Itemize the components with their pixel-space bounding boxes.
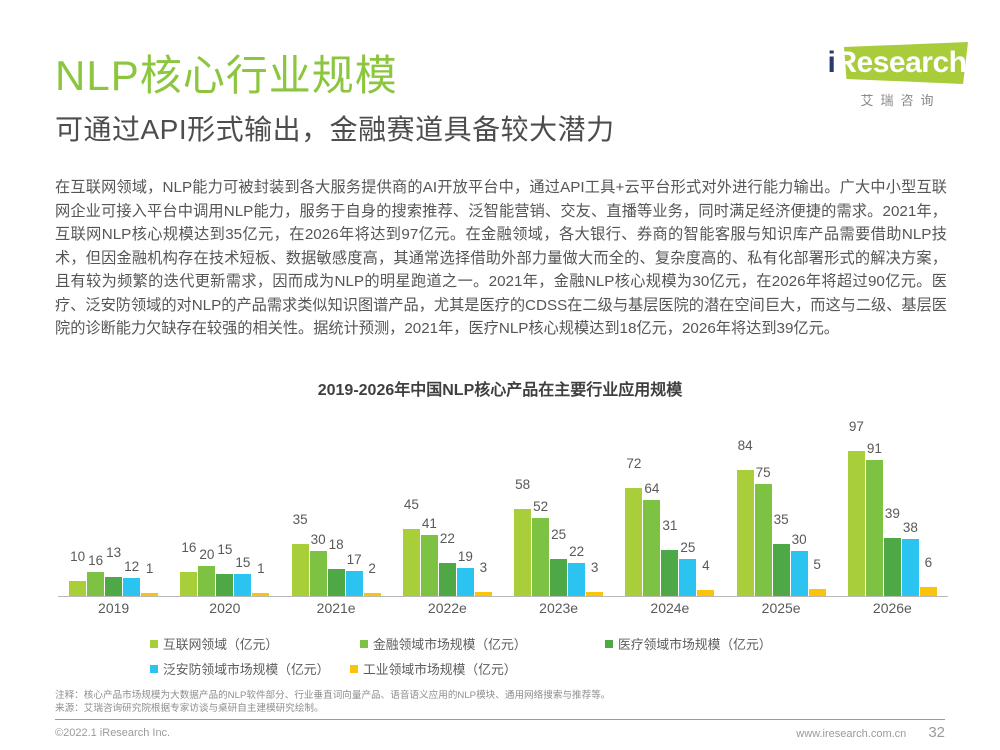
page-title: NLP核心行业规模 [55,42,398,103]
legend-item[interactable]: 工业领域市场规模（亿元） [350,659,550,678]
legend-swatch-icon [605,640,613,648]
legend-label: 互联网领域（亿元） [163,634,278,653]
bar-column[interactable]: 4 [697,406,714,596]
bar-column[interactable]: 6 [920,406,937,596]
bar[interactable] [737,470,754,596]
bar-column[interactable]: 72 [625,406,642,596]
logo-chinese-name: 艾瑞咨询 [822,90,972,109]
bar[interactable] [180,572,197,596]
bar[interactable] [364,593,381,596]
bar[interactable] [252,593,269,596]
bar[interactable] [550,559,567,597]
footer-page-number: 32 [928,724,945,741]
legend-item[interactable]: 互联网领域（亿元） [150,634,360,653]
bar-column[interactable]: 25 [550,406,567,596]
chart-notes: 注释：核心产品市场规模为大数据产品的NLP软件部分、行业垂直词向量产品、语音语义… [55,690,945,715]
bar-column[interactable]: 3 [586,406,603,596]
bar-group: 585225223 [503,406,614,596]
bar[interactable] [310,551,327,596]
x-axis-tick-2021e: 2021e [281,600,392,616]
bar-group: 454122193 [392,406,503,596]
logo-mark: iResearch [822,38,972,88]
bar-column[interactable]: 41 [421,406,438,596]
legend-item[interactable]: 泛安防领域市场规模（亿元） [150,659,350,678]
x-axis-tick-2026e: 2026e [837,600,948,616]
bar-group: 353018172 [281,406,392,596]
bar-value-label: 6 [908,555,948,570]
bar-value-label: 1 [130,561,170,576]
bar-column[interactable]: 30 [310,406,327,596]
x-axis-tick-2023e: 2023e [503,600,614,616]
logo-wordmark: iResearch [822,44,972,82]
bar-column[interactable]: 45 [403,406,420,596]
bar-value-label: 1 [241,561,281,576]
bar[interactable] [514,509,531,596]
bar[interactable] [848,451,865,597]
bar-column[interactable]: 35 [292,406,309,596]
footer-divider [55,719,945,720]
bar[interactable] [141,593,158,596]
bar-column[interactable]: 84 [737,406,754,596]
bar[interactable] [198,566,215,596]
bar-column[interactable]: 2 [364,406,381,596]
bar[interactable] [439,563,456,596]
bar-column[interactable]: 16 [180,406,197,596]
x-axis-tick-2019: 2019 [58,600,169,616]
legend-label: 金融领域市场规模（亿元） [373,634,527,653]
bar-column[interactable]: 16 [87,406,104,596]
legend-swatch-icon [360,640,368,648]
bar[interactable] [403,529,420,597]
chart-title: 2019-2026年中国NLP核心产品在主要行业应用规模 [0,376,1000,400]
bar[interactable] [216,574,233,597]
bar[interactable] [234,574,251,597]
bar[interactable] [661,550,678,597]
x-axis-tick-2020: 2020 [169,600,280,616]
bar-column[interactable]: 75 [755,406,772,596]
bar[interactable] [625,488,642,596]
page-footer: ©2022.1 iResearch Inc. www.iresearch.com… [55,724,945,741]
slide-page: iResearch 艾瑞咨询 NLP核心行业规模 可通过API形式输出，金融赛道… [0,0,1000,750]
bar[interactable] [809,589,826,597]
bar[interactable] [87,572,104,596]
bar-column[interactable]: 1 [141,406,158,596]
x-axis-tick-2025e: 2025e [726,600,837,616]
bar-column[interactable]: 52 [532,406,549,596]
legend-swatch-icon [150,640,158,648]
bar-column[interactable]: 31 [661,406,678,596]
bar[interactable] [884,538,901,597]
bar[interactable] [292,544,309,597]
footer-copyright: ©2022.1 iResearch Inc. [55,727,170,739]
bar-column[interactable]: 5 [809,406,826,596]
bar[interactable] [69,581,86,596]
bar[interactable] [755,484,772,597]
bar[interactable] [586,592,603,597]
bar[interactable] [643,500,660,596]
chart-plot-area: 1016131211620151513530181724541221935852… [58,406,948,596]
legend-label: 泛安防领域市场规模（亿元） [163,659,329,678]
bar-column[interactable]: 97 [848,406,865,596]
bar-group: 979139386 [837,406,948,596]
bar[interactable] [105,577,122,597]
bar-column[interactable]: 22 [439,406,456,596]
legend-label: 医疗领域市场规模（亿元） [618,634,772,653]
bar-column[interactable]: 20 [198,406,215,596]
bar[interactable] [773,544,790,597]
bar-value-label: 2 [352,561,392,576]
bar-column[interactable]: 64 [643,406,660,596]
bar[interactable] [920,587,937,596]
legend-item[interactable]: 金融领域市场规模（亿元） [360,634,605,653]
legend-swatch-icon [350,665,358,673]
footer-right-group: www.iresearch.com.cn 32 [796,724,945,741]
footer-website: www.iresearch.com.cn [796,728,906,740]
chart-legend: 互联网领域（亿元）金融领域市场规模（亿元）医疗领域市场规模（亿元）泛安防领域市场… [150,634,850,678]
legend-label: 工业领域市场规模（亿元） [363,659,517,678]
bar-column[interactable]: 3 [475,406,492,596]
iresearch-logo: iResearch 艾瑞咨询 [822,38,972,109]
bar-value-label: 4 [686,558,726,573]
legend-item[interactable]: 医疗领域市场规模（亿元） [605,634,850,653]
bar-column[interactable]: 91 [866,406,883,596]
note-definition: 注释：核心产品市场规模为大数据产品的NLP软件部分、行业垂直词向量产品、语音语义… [55,690,945,703]
bar-value-label: 3 [463,560,503,575]
bar-chart: 1016131211620151513530181724541221935852… [58,406,948,597]
bar-group: 726431254 [614,406,725,596]
page-subtitle: 可通过API形式输出，金融赛道具备较大潜力 [55,108,615,148]
bar-group: 101613121 [58,406,169,596]
bar[interactable] [475,592,492,597]
bar-column[interactable]: 39 [884,406,901,596]
bar[interactable] [866,460,883,597]
bar-value-label: 3 [575,560,615,575]
bar-group: 847535305 [726,406,837,596]
bar-group: 162015151 [169,406,280,596]
logo-research-letters: Research [835,46,966,79]
x-axis-tick-2024e: 2024e [614,600,725,616]
bar-column[interactable]: 18 [328,406,345,596]
note-source: 来源：艾瑞咨询研究院根据专家访谈与桌研自主建模研究绘制。 [55,703,945,716]
bar[interactable] [328,569,345,596]
bar-column[interactable]: 35 [773,406,790,596]
x-axis-labels: 201920202021e2022e2023e2024e2025e2026e [58,600,948,616]
body-paragraph: 在互联网领域，NLP能力可被封装到各大服务提供商的AI开放平台中，通过API工具… [55,176,947,341]
bar[interactable] [123,578,140,596]
legend-swatch-icon [150,665,158,673]
bar[interactable] [697,590,714,596]
bar-column[interactable]: 1 [252,406,269,596]
x-axis-tick-2022e: 2022e [392,600,503,616]
bar-value-label: 5 [797,557,837,572]
